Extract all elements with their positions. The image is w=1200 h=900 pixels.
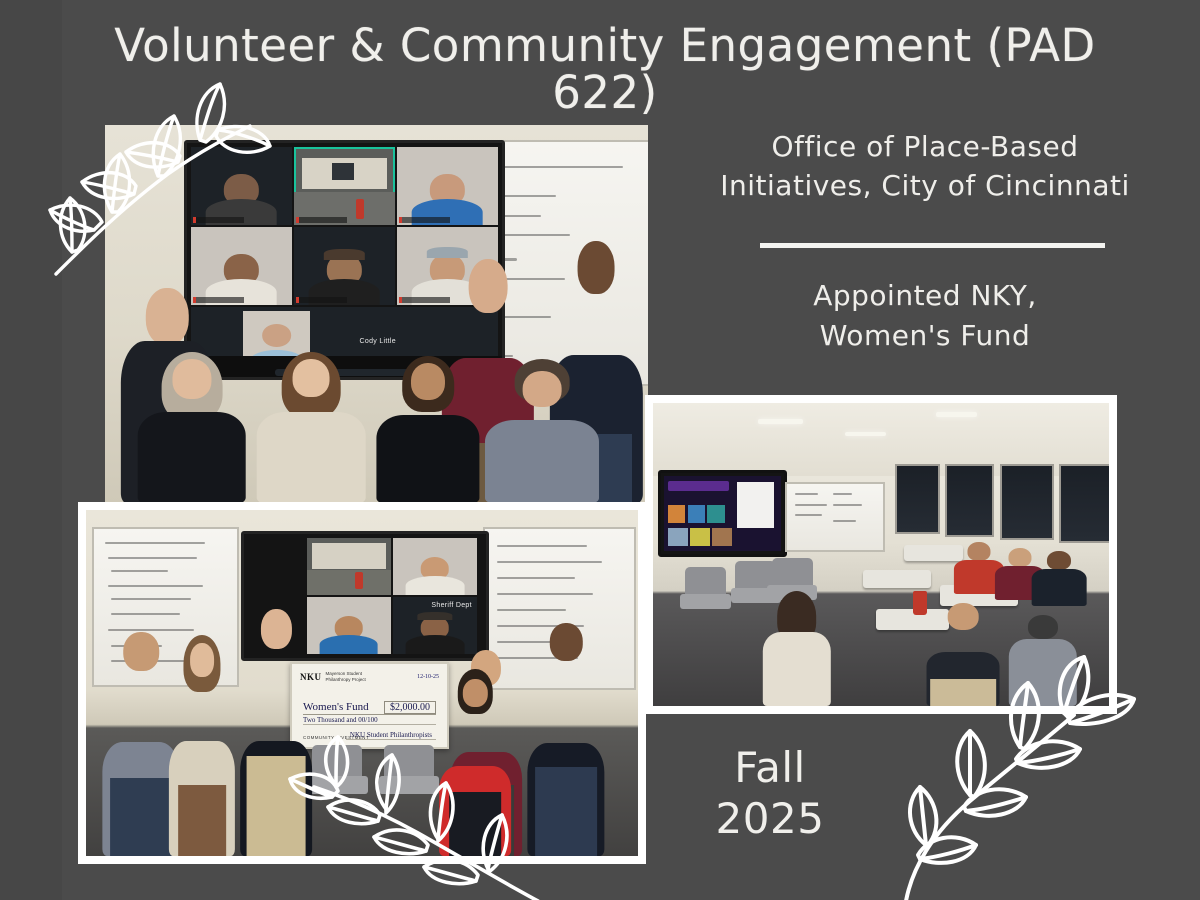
person	[169, 635, 235, 856]
horizontal-rule	[760, 243, 1105, 248]
subtitle-partner: Office of Place-Based Initiatives, City …	[700, 128, 1150, 205]
video-participant-name: Cody Little	[360, 338, 396, 345]
check-amount: $2,000.00	[384, 701, 436, 714]
person-seated	[927, 603, 1000, 706]
person	[528, 621, 605, 856]
person	[241, 607, 313, 856]
photo-group-class-content: Cody Little	[105, 125, 648, 503]
check-amount-words: Two Thousand and 00/100	[303, 716, 436, 725]
person	[439, 669, 511, 856]
whiteboard	[785, 482, 885, 553]
video-tile	[191, 147, 292, 225]
page-title: Volunteer & Community Engagement (PAD 62…	[60, 22, 1150, 117]
season-line-1: Fall	[620, 742, 920, 793]
award-text: Appointed NKY, Women's Fund	[700, 276, 1150, 356]
check-program-line1: Mayerson Student	[325, 671, 362, 676]
check-program-line2: Philanthropy Project	[325, 677, 365, 682]
video-tile	[393, 538, 477, 595]
video-tile-classroom	[294, 147, 395, 225]
person-seated	[1031, 551, 1086, 606]
photo-check-presentation: Sheriff Dept NKU Mayerson Student Philan…	[78, 502, 646, 864]
photo-check-presentation-content: Sheriff Dept NKU Mayerson Student Philan…	[86, 510, 638, 856]
season-line-2: 2025	[620, 793, 920, 844]
award-line-1: Appointed NKY,	[813, 279, 1037, 312]
award-line-2: Women's Fund	[820, 319, 1030, 352]
video-tile	[397, 147, 498, 225]
video-tile	[307, 597, 391, 654]
video-tile	[294, 227, 395, 305]
drink-tumbler	[913, 591, 927, 615]
person-seated	[485, 359, 599, 503]
person-seated	[762, 591, 830, 706]
video-tile-classroom	[307, 538, 391, 595]
check-signature: NKU Student Philanthropists	[346, 731, 436, 740]
person-seated	[1009, 615, 1077, 706]
subtitle-line-2: Initiatives, City of Cincinnati	[720, 169, 1129, 202]
subtitle-line-1: Office of Place-Based	[772, 130, 1079, 163]
season-label: Fall 2025	[620, 742, 920, 844]
video-participant-name: Sheriff Dept	[431, 602, 471, 609]
person-seated	[257, 352, 366, 503]
poster-canvas: Cody Little	[0, 0, 1200, 900]
photo-classroom-session	[645, 395, 1117, 714]
person-seated	[377, 356, 480, 503]
ceremonial-check: NKU Mayerson Student Philanthropy Projec…	[290, 662, 449, 749]
photo-classroom-session-content	[653, 403, 1109, 706]
photo-group-class: Cody Little	[105, 125, 648, 503]
check-date: 12-10-25	[417, 674, 439, 680]
presentation-display	[658, 470, 787, 558]
person-seated	[138, 352, 247, 503]
check-payee: Women's Fund	[303, 701, 369, 713]
desk	[863, 570, 931, 588]
